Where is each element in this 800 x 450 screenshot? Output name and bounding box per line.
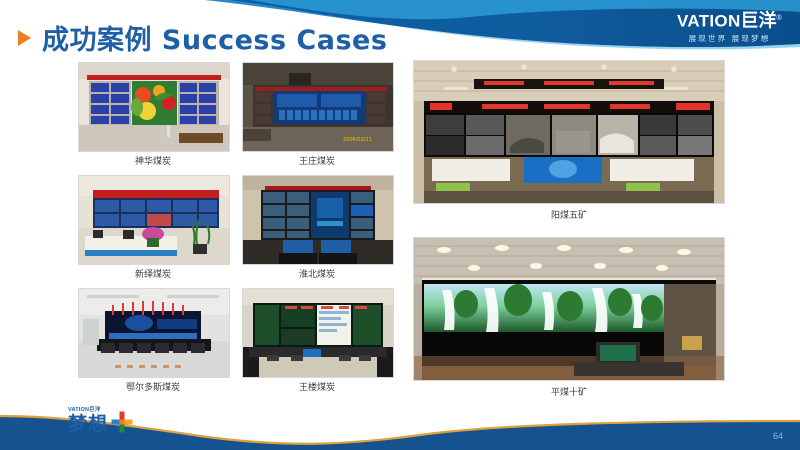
cases-right-column: 阳煤五矿 [413,60,725,414]
registered-mark-icon: ® [777,15,782,22]
case-caption: 新绎煤炭 [78,269,228,282]
presentation-slide: VATION巨洋® 展现世界 展现梦想 成功案例 Success Cases [0,0,800,450]
case-card[interactable]: 神华煤炭 [78,62,228,169]
header-logo-wordmark: VATION巨洋® [677,9,782,31]
case-caption: 神华煤炭 [78,156,228,169]
header-logo-cn: 巨洋 [741,11,777,31]
page-title: 成功案例 Success Cases [18,18,387,57]
header-brand-logo: VATION巨洋® 展现世界 展现梦想 [677,9,782,44]
page-number: 64 [773,431,783,441]
control-room-dashboard-videowall-photo[interactable] [242,288,394,378]
control-room-blue-scada-videowall-photo[interactable]: 2006/02/11 [242,62,394,152]
control-room-led-ceiling-videowall-photo[interactable] [78,288,230,378]
large-cctv-videowall-consoles-photo[interactable] [413,60,725,204]
panoramic-waterfall-led-wall-photo[interactable] [413,237,725,381]
case-card[interactable]: 2006/02/11 王庄煤炭 [242,62,392,169]
case-card[interactable]: 平煤十矿 [413,237,725,400]
case-card[interactable]: 淮北煤炭 [242,175,392,282]
control-room-banner-flowers-videowall-photo[interactable] [78,175,230,265]
page-title-text: 成功案例 Success Cases [42,18,387,57]
control-room-cctv-grid-videowall-photo[interactable] [242,175,394,265]
case-card[interactable]: 王楼煤炭 [242,288,392,395]
triangle-right-icon [18,30,31,46]
case-caption: 王庄煤炭 [242,156,392,169]
case-caption: 王楼煤炭 [242,382,392,395]
case-card[interactable]: 鄂尔多斯煤炭 [78,288,228,395]
cases-gallery: 神华煤炭 [0,56,800,422]
footer-logo-big-text: 梦想 [68,414,108,434]
cases-row: 新绎煤炭 [78,175,393,282]
control-room-fruit-videowall-photo[interactable] [78,62,230,152]
cases-row: 鄂尔多斯煤炭 [78,288,393,395]
case-caption: 阳煤五矿 [413,210,725,223]
case-card[interactable]: 阳煤五矿 [413,60,725,223]
footer-brand-logo: VATION巨洋 梦想 [68,407,133,434]
case-card[interactable]: 新绎煤炭 [78,175,228,282]
header-logo-tagline: 展现世界 展现梦想 [677,33,782,44]
cases-left-column: 神华煤炭 [78,62,393,401]
case-caption: 淮北煤炭 [242,269,392,282]
case-caption: 平煤十矿 [413,387,725,400]
svg-text:2006/02/11: 2006/02/11 [343,137,372,143]
colorful-plus-icon [111,411,133,433]
cases-row: 神华煤炭 [78,62,393,169]
case-caption: 鄂尔多斯煤炭 [78,382,228,395]
header-logo-latin: VATION [677,12,741,31]
